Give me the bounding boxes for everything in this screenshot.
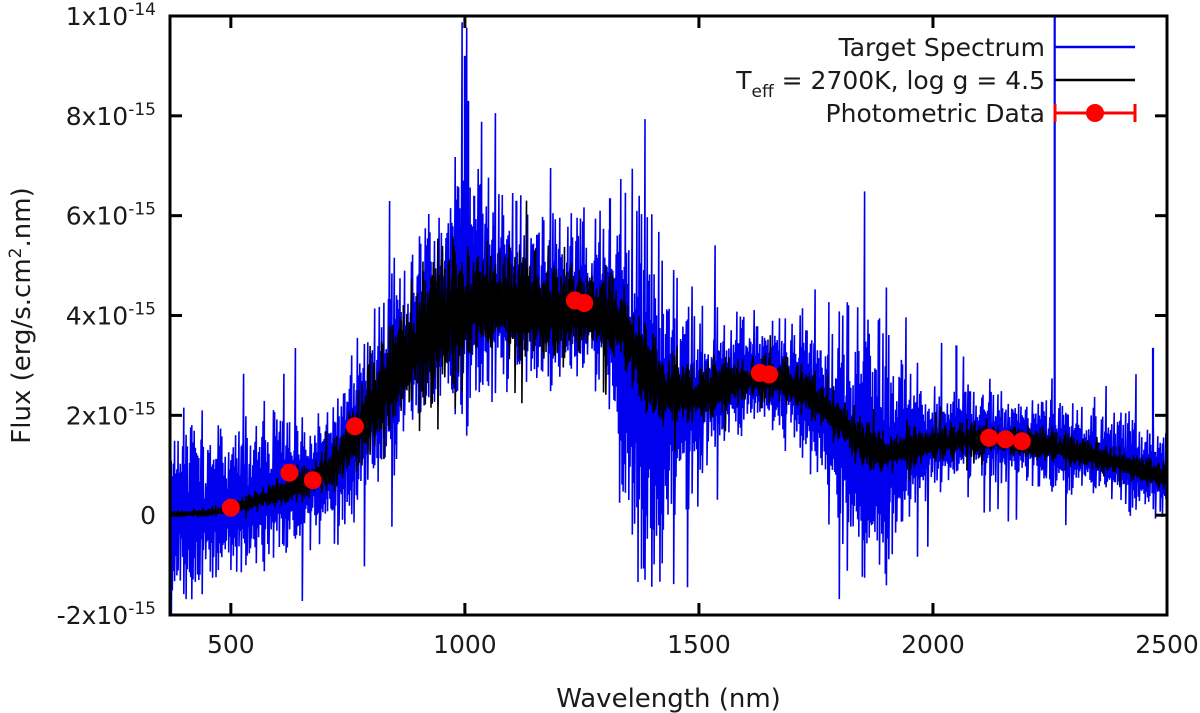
photometric-point (222, 499, 240, 517)
photometric-point (346, 417, 364, 435)
photometric-point (575, 294, 593, 312)
photometric-point (760, 365, 778, 383)
photometric-point (1013, 432, 1031, 450)
photometric-point (997, 430, 1015, 448)
x-tick-label: 2000 (901, 630, 965, 659)
x-axis-title: Wavelength (nm) (556, 684, 781, 713)
legend-label-photometric-data: Photometric Data (826, 99, 1045, 128)
y-axis-title: Flux (erg/s.cm2.nm) (6, 187, 37, 443)
x-tick-label: 500 (207, 630, 255, 659)
x-tick-label: 1000 (433, 630, 497, 659)
photometric-point (304, 471, 322, 489)
legend-label-target-spectrum: Target Spectrum (838, 33, 1045, 62)
legend-sample-point (1086, 104, 1104, 122)
photometric-point (980, 429, 998, 447)
photometric-point (280, 464, 298, 482)
x-tick-label: 1500 (667, 630, 731, 659)
spectrum-chart: 5001000150020002500-2x10-1502x10-154x10-… (0, 0, 1200, 713)
y-tick-label: 0 (140, 501, 156, 530)
x-tick-label: 2500 (1135, 630, 1199, 659)
chart-canvas: 5001000150020002500-2x10-1502x10-154x10-… (0, 0, 1200, 713)
